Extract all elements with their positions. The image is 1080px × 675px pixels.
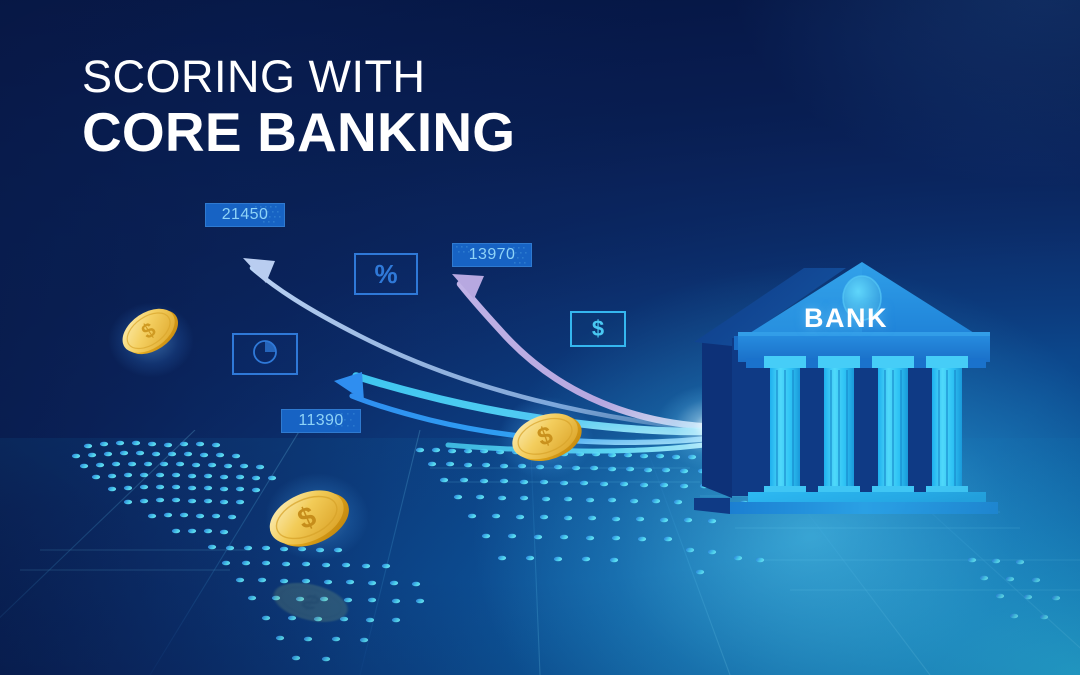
vignette-overlay xyxy=(0,0,1080,675)
banner-canvas: BANK % $ xyxy=(0,0,1080,675)
